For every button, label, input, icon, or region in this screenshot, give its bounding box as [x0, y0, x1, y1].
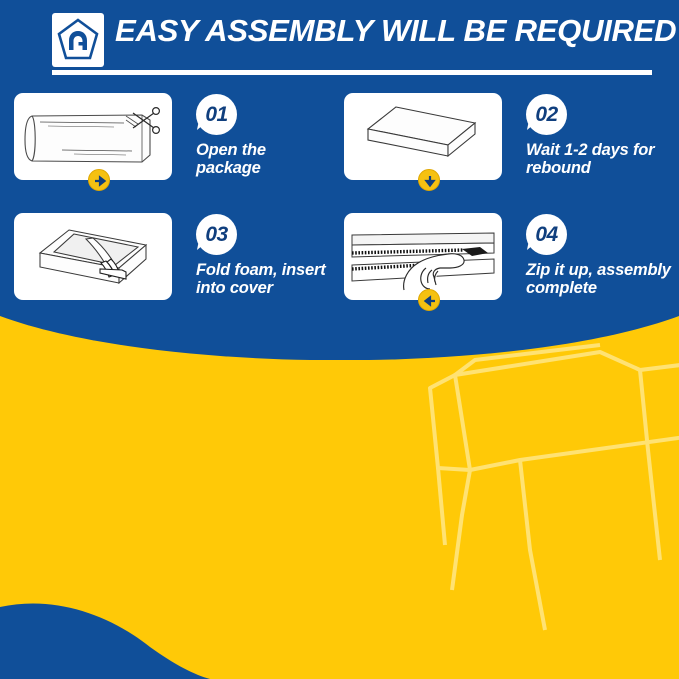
step-01-label: Open the package	[196, 141, 346, 178]
step-04: 04 Zip it up, assembly complete	[344, 213, 679, 311]
arrow-down-icon	[418, 169, 440, 191]
step-04-label: Zip it up, assembly complete	[526, 261, 679, 298]
step-03-number-badge: 03	[196, 214, 240, 258]
step-03-illustration-card	[14, 213, 172, 300]
hand-zipping-cushion-cover-icon	[344, 213, 502, 300]
header-divider	[52, 70, 652, 75]
step-01-illustration-card	[14, 93, 172, 180]
foam-folded-into-cover-icon	[14, 213, 172, 300]
house-pentagon-icon	[52, 13, 104, 67]
step-02-number: 02	[526, 94, 567, 135]
step-02-illustration-card	[344, 93, 502, 180]
flat-foam-cushion-icon	[344, 93, 502, 180]
page-title: EASY ASSEMBLY WILL BE REQUIRED	[115, 14, 676, 49]
arrow-right-icon	[88, 169, 110, 191]
step-03-label: Fold foam, insert into cover	[196, 261, 351, 298]
step-04-number: 04	[526, 214, 567, 255]
blue-corner-decoration	[0, 585, 250, 679]
step-02: 02 Wait 1-2 days for rebound	[344, 93, 679, 191]
step-03-number: 03	[196, 214, 237, 255]
step-01-number-badge: 01	[196, 94, 240, 138]
step-01-number: 01	[196, 94, 237, 135]
step-03: 03 Fold foam, insert into cover	[14, 213, 344, 311]
header: EASY ASSEMBLY WILL BE REQUIRED	[0, 0, 679, 80]
step-01: 01 Open the package	[14, 93, 344, 191]
step-04-illustration-card	[344, 213, 502, 300]
measure-section: HOW TO MEASURE YOUR FURNITURE	[0, 300, 679, 679]
package-bag-with-scissors-icon	[14, 93, 172, 180]
step-02-label: Wait 1-2 days for rebound	[526, 141, 679, 178]
step-02-number-badge: 02	[526, 94, 570, 138]
step-04-number-badge: 04	[526, 214, 570, 258]
